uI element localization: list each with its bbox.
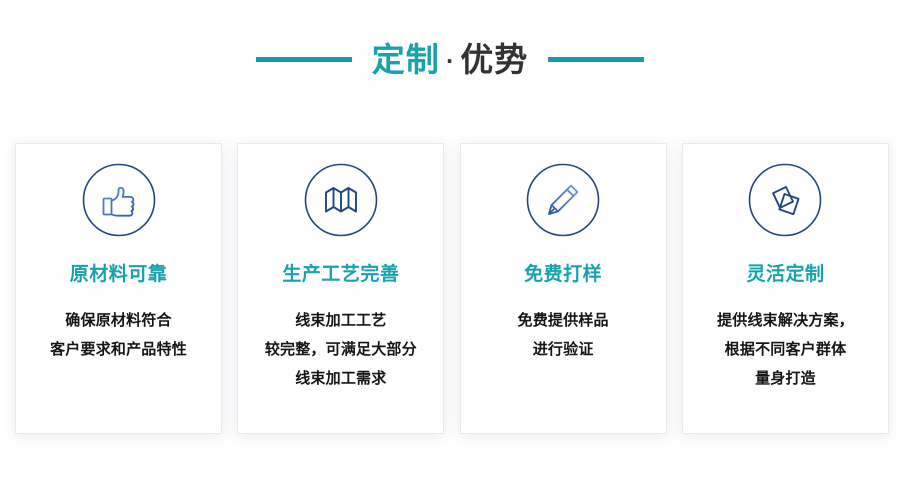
advantage-card[interactable]: 生产工艺完善 线束加工工艺 较完整，可满足大部分 线束加工需求 — [238, 144, 443, 433]
advantage-card-title: 原材料可靠 — [70, 264, 168, 285]
advantage-card-list: 原材料可靠 确保原材料符合 客户要求和产品特性 生产工艺完善 线束加工工艺 — [16, 144, 888, 433]
folded-map-icon — [303, 162, 379, 238]
section-heading: 定制 · 优势 — [0, 30, 900, 88]
advantage-card-body-line: 线束加工工艺 — [265, 306, 417, 335]
page-title-separator: · — [440, 51, 461, 71]
page-title: 定制 · 优势 — [372, 43, 529, 76]
advantage-card[interactable]: 免费打样 免费提供样品 进行验证 — [461, 144, 666, 433]
stacked-sheets-icon — [747, 162, 823, 238]
pencil-icon — [525, 162, 601, 238]
advantage-card-body-line: 根据不同客户群体 — [717, 335, 854, 364]
advantage-card-body: 提供线束解决方案， 根据不同客户群体 量身打造 — [711, 306, 860, 393]
advantage-card-body: 免费提供样品 进行验证 — [512, 306, 615, 364]
advantage-card-body-line: 量身打造 — [717, 364, 854, 393]
heading-rule-right — [548, 57, 644, 62]
advantage-card-body-line: 提供线束解决方案， — [717, 306, 854, 335]
advantage-card-body: 线束加工工艺 较完整，可满足大部分 线束加工需求 — [259, 306, 423, 393]
advantage-card[interactable]: 原材料可靠 确保原材料符合 客户要求和产品特性 — [16, 144, 221, 433]
advantage-card-body-line: 客户要求和产品特性 — [50, 335, 187, 364]
page-title-accent: 定制 — [372, 43, 440, 76]
advantage-card-title: 免费打样 — [524, 264, 602, 285]
advantage-card-title: 灵活定制 — [746, 264, 824, 285]
advantage-card-body-line: 线束加工需求 — [265, 364, 417, 393]
page-title-dark: 优势 — [460, 43, 528, 76]
advantages-section: 定制 · 优势 — [0, 0, 900, 499]
heading-rule-left — [256, 57, 352, 62]
advantage-card-title: 生产工艺完善 — [282, 264, 399, 285]
advantage-card-body-line: 进行验证 — [518, 335, 609, 364]
advantage-card-body: 确保原材料符合 客户要求和产品特性 — [44, 306, 193, 364]
advantage-card-body-line: 确保原材料符合 — [50, 306, 187, 335]
advantage-card-body-line: 免费提供样品 — [518, 306, 609, 335]
advantage-card[interactable]: 灵活定制 提供线束解决方案， 根据不同客户群体 量身打造 — [683, 144, 888, 433]
advantage-card-body-line: 较完整，可满足大部分 — [265, 335, 417, 364]
thumbs-up-icon — [81, 162, 157, 238]
